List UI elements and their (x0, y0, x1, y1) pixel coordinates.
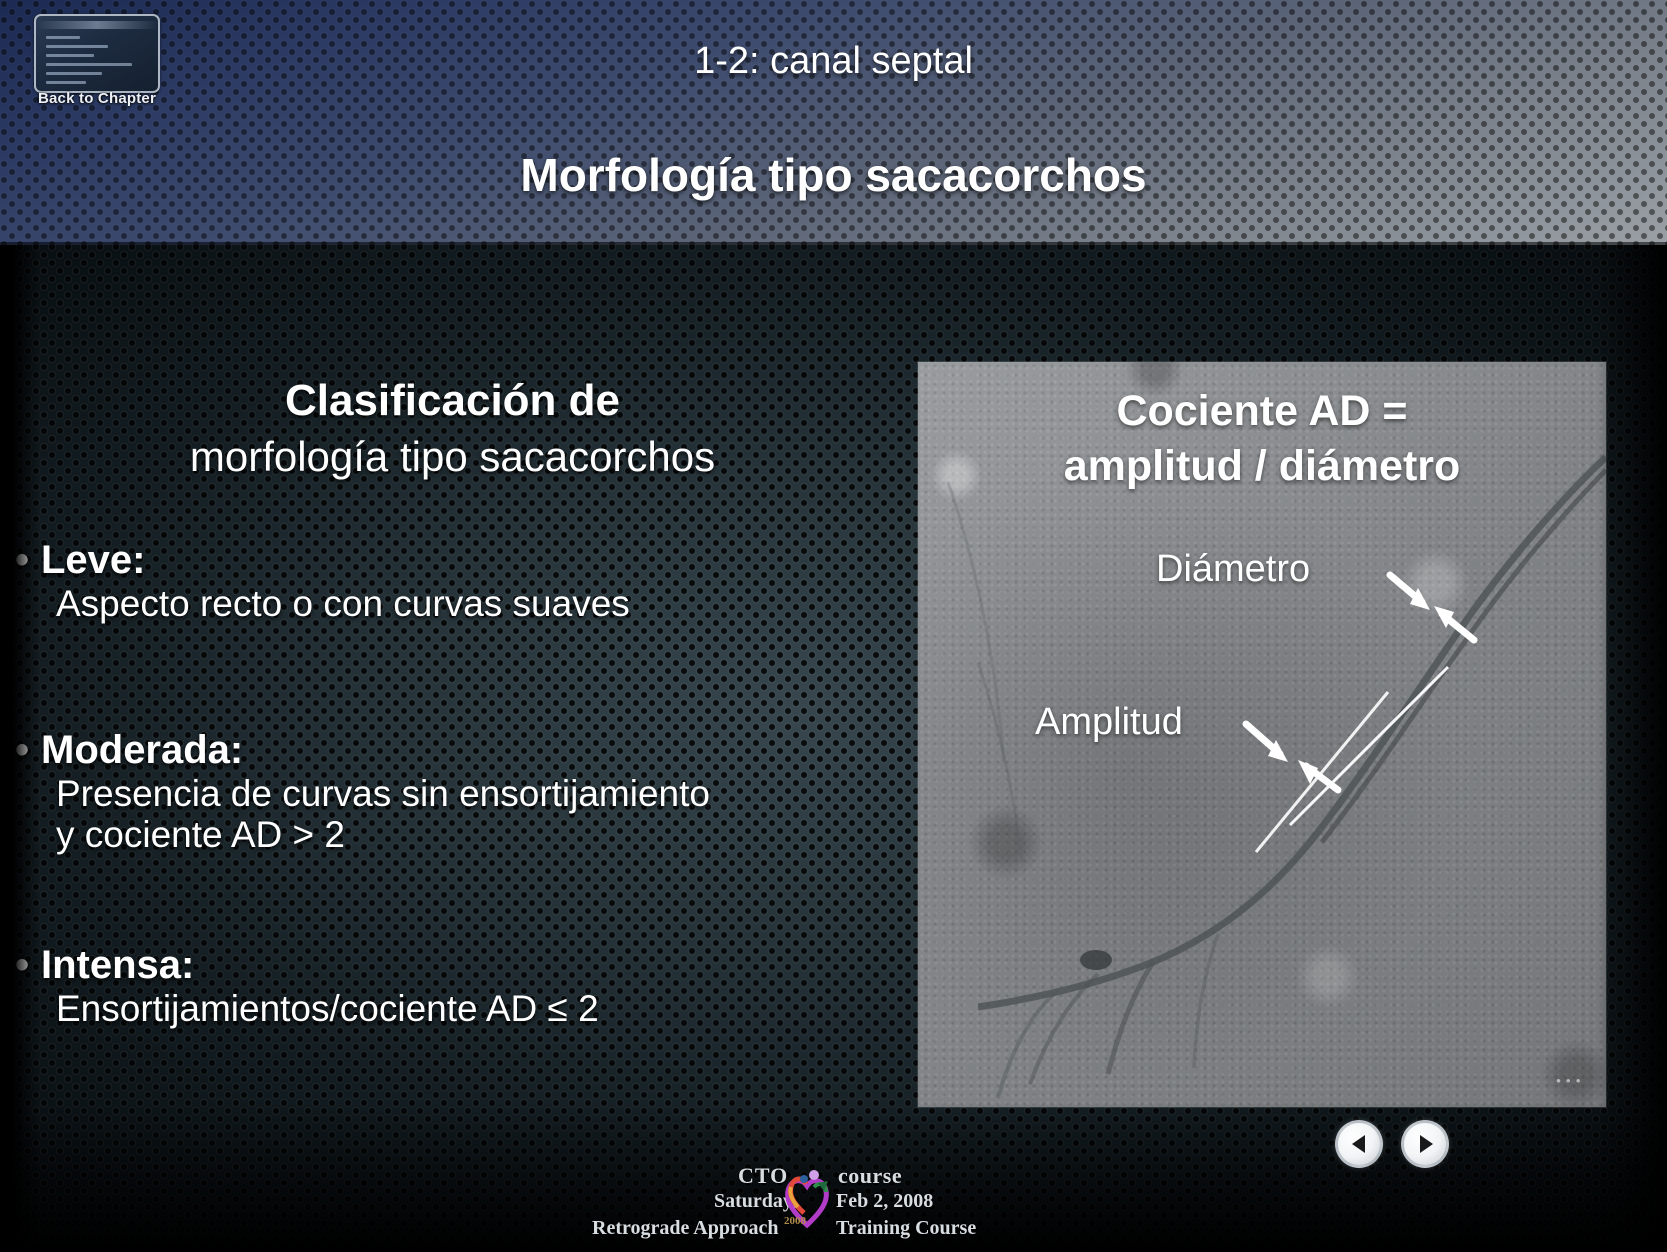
angiogram-title-line1: Cociente AD = (1116, 387, 1407, 435)
angiogram-image-panel: Cociente AD = amplitud / diámetro Diámet… (918, 362, 1606, 1107)
bullet-term-moderada: •Moderada: (15, 728, 895, 773)
chevron-left-icon (1352, 1135, 1365, 1153)
label-diametro: Diámetro (1156, 548, 1310, 591)
bullet-term-intensa: •Intensa: (15, 943, 895, 988)
bullet-term-leve: •Leve: (15, 538, 895, 583)
angiogram-corner-stamp: ••• (1555, 1074, 1584, 1089)
left-text-column: Clasificación de morfología tipo sacacor… (0, 243, 905, 1252)
angiogram-title: Cociente AD = amplitud / diámetro (918, 384, 1606, 494)
right-edge-vignette (1597, 243, 1667, 1252)
label-amplitud: Amplitud (1035, 701, 1183, 744)
header-divider (0, 242, 1667, 245)
slide-subheader: 1-2: canal septal (0, 40, 1667, 83)
bullet-term-moderada-text: Moderada: (41, 728, 243, 772)
bullet-desc-leve-line1: Aspecto recto o con curvas suaves (56, 583, 895, 624)
chevron-right-icon (1420, 1135, 1433, 1153)
thumbnail-title-bar (36, 21, 158, 29)
bullet-desc-moderada-line1: Presencia de curvas sin ensortijamiento (56, 773, 895, 814)
bullet-desc-moderada-line2: y cociente AD > 2 (56, 814, 895, 855)
logo-year-badge: 2008 (784, 1215, 806, 1227)
slide-navigation (1335, 1120, 1449, 1168)
angiogram-title-line2: amplitud / diámetro (1064, 442, 1461, 490)
left-edge-vignette (0, 243, 40, 1252)
logo-course-text: course (838, 1163, 902, 1189)
back-to-chapter-label: Back to Chapter (27, 90, 167, 107)
bullet-item-intensa: •Intensa: Ensortijamientos/cociente AD ≤… (15, 943, 895, 1029)
slide-header-band: Back to Chapter 1-2: canal septal Morfol… (0, 0, 1667, 245)
header-mesh-texture (0, 0, 1667, 245)
bullet-desc-intensa-line1: Ensortijamientos/cociente AD ≤ 2 (56, 988, 895, 1029)
logo-date-text: Feb 2, 2008 (836, 1190, 933, 1213)
previous-slide-button[interactable] (1335, 1120, 1383, 1168)
classification-heading: Clasificación de (0, 376, 905, 426)
logo-retrograde-text: Retrograde Approach (592, 1217, 778, 1240)
bullet-item-leve: •Leve: Aspecto recto o con curvas suaves (15, 538, 895, 624)
classification-subheading: morfología tipo sacacorchos (0, 433, 905, 481)
page-title: Morfología tipo sacacorchos (0, 148, 1667, 202)
logo-cto-text: CTO (738, 1163, 788, 1189)
logo-training-text: Training Course (836, 1217, 976, 1240)
presentation-slide: Cociente AD = amplitud / diámetro Diámet… (0, 0, 1667, 1252)
bullet-term-intensa-text: Intensa: (41, 943, 194, 987)
bullet-term-leve-text: Leve: (41, 538, 146, 582)
bullet-item-moderada: •Moderada: Presencia de curvas sin ensor… (15, 728, 895, 856)
next-slide-button[interactable] (1401, 1120, 1449, 1168)
cto-course-footer-logo: CTO course Saturday, Feb 2, 2008 Retrogr… (588, 1163, 1008, 1243)
